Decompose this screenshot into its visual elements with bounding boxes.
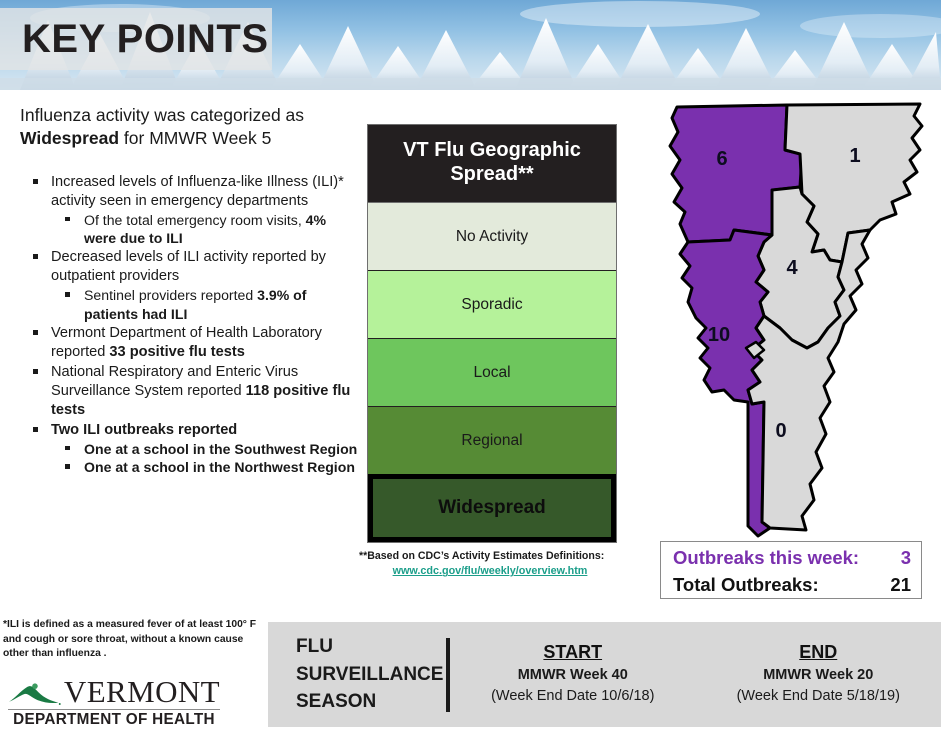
key-points-column: Influenza activity was categorized as Wi…: [20, 104, 360, 477]
key-point-text: National Respiratory and Enteric Virus S…: [51, 364, 350, 418]
header-banner: KEY POINTS: [0, 0, 941, 90]
key-point-text: Vermont Department of Health Laboratory …: [51, 325, 322, 360]
outbreaks-total-label: Total Outbreaks:: [673, 572, 819, 599]
bullet-square-icon: [33, 330, 38, 335]
bullet-square-icon: [65, 292, 70, 297]
key-points-list: Increased levels of Influenza-like Illne…: [20, 173, 360, 477]
key-point-subtext: Of the total emergency room visits, 4% w…: [84, 212, 326, 246]
key-point-item: Increased levels of Influenza-like Illne…: [20, 173, 360, 248]
season-start-week: MMWR Week 40: [450, 665, 696, 686]
season-end-week: MMWR Week 20: [696, 665, 941, 686]
legend-row-no-activity[interactable]: No Activity: [368, 203, 616, 271]
key-point-subtext: Sentinel providers reported 3.9% of pati…: [84, 287, 306, 321]
bullet-square-icon: [33, 369, 38, 374]
lead-bold: Widespread: [20, 128, 119, 148]
outbreaks-total-value: 21: [890, 572, 911, 599]
bullet-square-icon: [33, 254, 38, 259]
key-point-text: Decreased levels of ILI activity reporte…: [51, 249, 326, 284]
outbreaks-summary-box: Outbreaks this week: 3 Total Outbreaks: …: [660, 541, 922, 599]
legend-footnote: **Based on CDC’s Activity Estimates Defi…: [359, 549, 621, 579]
map-label-northwest: 6: [716, 148, 727, 170]
legend-row-sporadic[interactable]: Sporadic: [368, 271, 616, 339]
season-label: FLU SURVEILLANCE SEASON: [268, 633, 446, 716]
legend-row-widespread[interactable]: Widespread: [368, 474, 616, 542]
legend-row-label: Sporadic: [461, 296, 522, 314]
lead-pre: Influenza activity was categorized as: [20, 105, 304, 125]
season-label-line2: SURVEILLANCE: [296, 661, 446, 689]
page-title-box: KEY POINTS: [0, 8, 272, 70]
legend-footnote-text: **Based on CDC’s Activity Estimates Defi…: [359, 550, 604, 562]
key-point-subitem: Of the total emergency room visits, 4% w…: [51, 211, 360, 248]
key-point-item: Decreased levels of ILI activity reporte…: [20, 248, 360, 323]
outbreaks-week-label: Outbreaks this week:: [673, 545, 859, 572]
legend-rows: No ActivitySporadicLocalRegionalWidespre…: [368, 203, 616, 542]
ili-definition-footnote: *ILI is defined as a measured fever of a…: [3, 618, 261, 662]
map-label-southwest: 10: [708, 324, 730, 346]
key-point-item: Two ILI outbreaks reportedOne at a schoo…: [20, 421, 360, 477]
page-title: KEY POINTS: [0, 17, 269, 62]
logo-subtitle: DEPARTMENT OF HEALTH: [8, 711, 220, 729]
bullet-square-icon: [33, 427, 38, 432]
season-label-line3: SEASON: [296, 688, 446, 716]
season-columns: START MMWR Week 40 (Week End Date 10/6/1…: [450, 642, 941, 707]
outbreaks-week-value: 3: [901, 545, 911, 572]
legend-row-label: Local: [473, 364, 510, 382]
season-end-col: END MMWR Week 20 (Week End Date 5/18/19): [696, 642, 941, 707]
key-point-text: Increased levels of Influenza-like Illne…: [51, 174, 344, 209]
legend-title: VT Flu Geographic Spread**: [368, 125, 616, 203]
bullet-square-icon: [65, 446, 70, 451]
key-point-subitem: One at a school in the Northwest Region: [51, 458, 360, 476]
season-start-date: (Week End Date 10/6/18): [450, 686, 696, 707]
map-label-northeast: 1: [849, 145, 860, 167]
lead-statement: Influenza activity was categorized as Wi…: [20, 104, 360, 151]
key-point-sublist: One at a school in the Southwest RegionO…: [51, 440, 360, 477]
season-end-date: (Week End Date 5/18/19): [696, 686, 941, 707]
logo-wordmark: VERMONT: [64, 678, 220, 707]
key-point-subtext: One at a school in the Southwest Region: [84, 441, 357, 457]
outbreaks-week-row: Outbreaks this week: 3: [673, 545, 911, 572]
key-point-sublist: Of the total emergency room visits, 4% w…: [51, 211, 360, 248]
key-point-text: Two ILI outbreaks reported: [51, 422, 237, 438]
season-label-line1: FLU: [296, 633, 446, 661]
vermont-doh-logo: VERMONT DEPARTMENT OF HEALTH: [8, 678, 220, 729]
cdc-definitions-link[interactable]: www.cdc.gov/flu/weekly/overview.htm: [359, 564, 621, 579]
bullet-square-icon: [65, 464, 70, 469]
green-mountain-logo-icon: [8, 681, 62, 707]
season-end-heading: END: [696, 642, 941, 663]
legend-row-label: Regional: [461, 432, 522, 450]
bullet-square-icon: [33, 179, 38, 184]
lead-post: for MMWR Week 5: [119, 128, 271, 148]
outbreaks-total-row: Total Outbreaks: 21: [673, 572, 911, 599]
key-point-subitem: One at a school in the Southwest Region: [51, 440, 360, 458]
flu-spread-legend: VT Flu Geographic Spread** No ActivitySp…: [367, 124, 617, 543]
map-label-central: 4: [786, 257, 798, 279]
vermont-region-map: 614100: [652, 102, 937, 542]
key-point-sublist: Sentinel providers reported 3.9% of pati…: [51, 286, 360, 323]
key-point-item: Vermont Department of Health Laboratory …: [20, 324, 360, 362]
legend-row-label: Widespread: [438, 497, 546, 519]
key-point-item: National Respiratory and Enteric Virus S…: [20, 363, 360, 420]
season-start-col: START MMWR Week 40 (Week End Date 10/6/1…: [450, 642, 696, 707]
season-start-heading: START: [450, 642, 696, 663]
legend-row-local[interactable]: Local: [368, 339, 616, 407]
key-point-subitem: Sentinel providers reported 3.9% of pati…: [51, 286, 360, 323]
legend-row-regional[interactable]: Regional: [368, 407, 616, 474]
key-point-subtext: One at a school in the Northwest Region: [84, 459, 355, 475]
bullet-square-icon: [65, 217, 70, 222]
legend-row-label: No Activity: [456, 228, 528, 246]
flu-surveillance-season-band: FLU SURVEILLANCE SEASON START MMWR Week …: [268, 622, 941, 727]
map-label-southeast: 0: [775, 420, 786, 442]
